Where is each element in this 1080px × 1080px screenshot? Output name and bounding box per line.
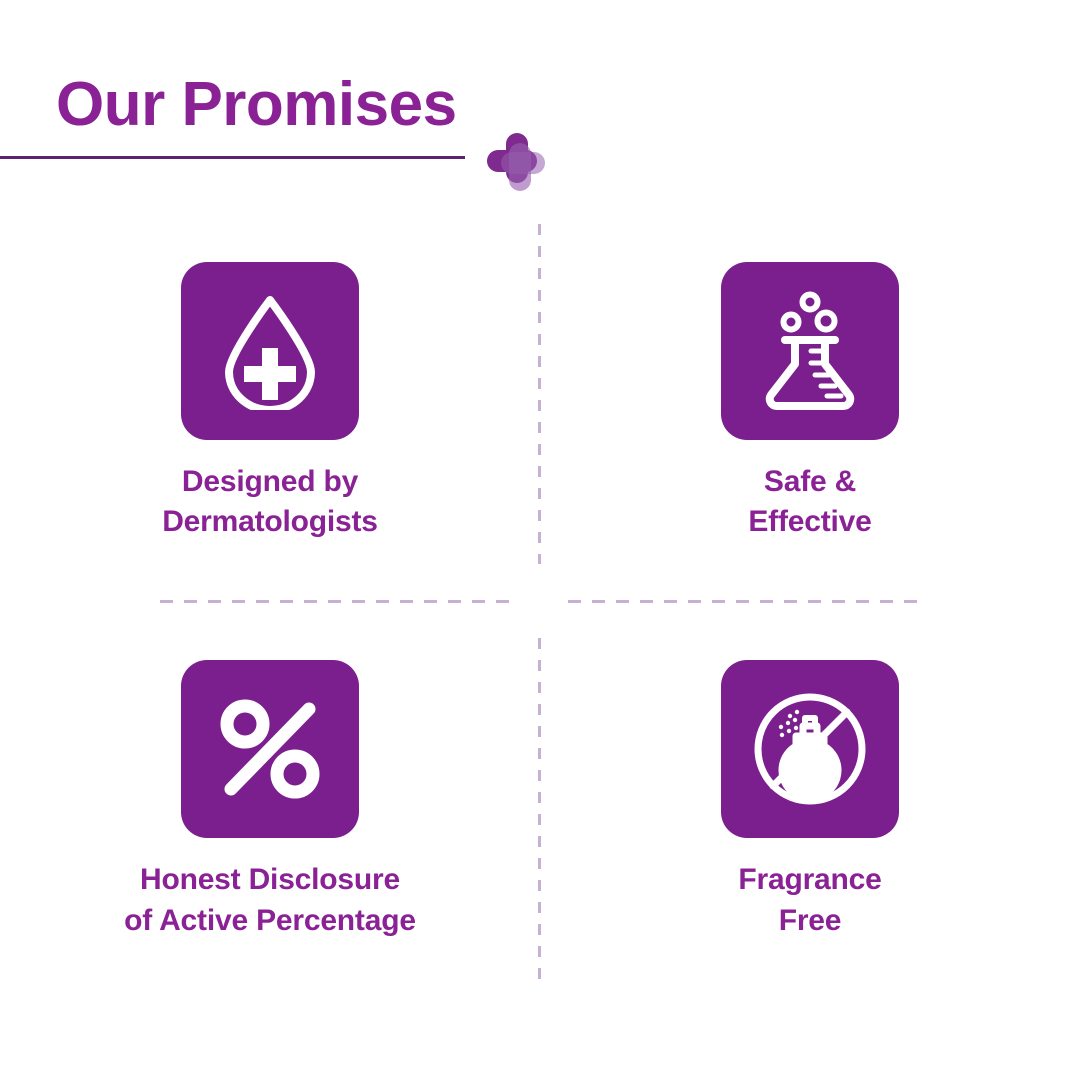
promise-label: Honest Disclosure of Active Percentage: [124, 860, 416, 940]
promise-label: Fragrance Free: [738, 860, 881, 940]
promise-card-designed-by-dermatologists: Designed by Dermatologists: [0, 262, 540, 542]
lab-flask-icon: [755, 291, 865, 411]
icon-tile: [721, 262, 899, 440]
plus-vertical-bar-overlay: [509, 143, 531, 191]
percent-icon: [217, 696, 323, 802]
promise-row: Honest Disclosure of Active Percentage: [0, 660, 1080, 940]
promise-card-safe-and-effective: Safe & Effective: [540, 262, 1080, 542]
promise-label: Safe & Effective: [748, 462, 871, 542]
medical-plus-icon: [487, 133, 545, 191]
title-underline: [0, 156, 465, 159]
promise-card-honest-disclosure: Honest Disclosure of Active Percentage: [0, 660, 540, 940]
icon-tile: [181, 660, 359, 838]
promise-card-fragrance-free: Fragrance Free: [540, 660, 1080, 940]
icon-tile: [721, 660, 899, 838]
promise-label: Designed by Dermatologists: [162, 462, 378, 542]
page-title: Our Promises: [56, 72, 457, 137]
promise-row: Designed by Dermatologists: [0, 262, 1080, 542]
no-fragrance-icon: [751, 690, 869, 808]
droplet-plus-icon: [215, 292, 325, 410]
promise-grid: Designed by Dermatologists: [0, 262, 1080, 941]
icon-tile: [181, 262, 359, 440]
promises-graphic: Our Promises Designed: [0, 0, 1080, 1080]
